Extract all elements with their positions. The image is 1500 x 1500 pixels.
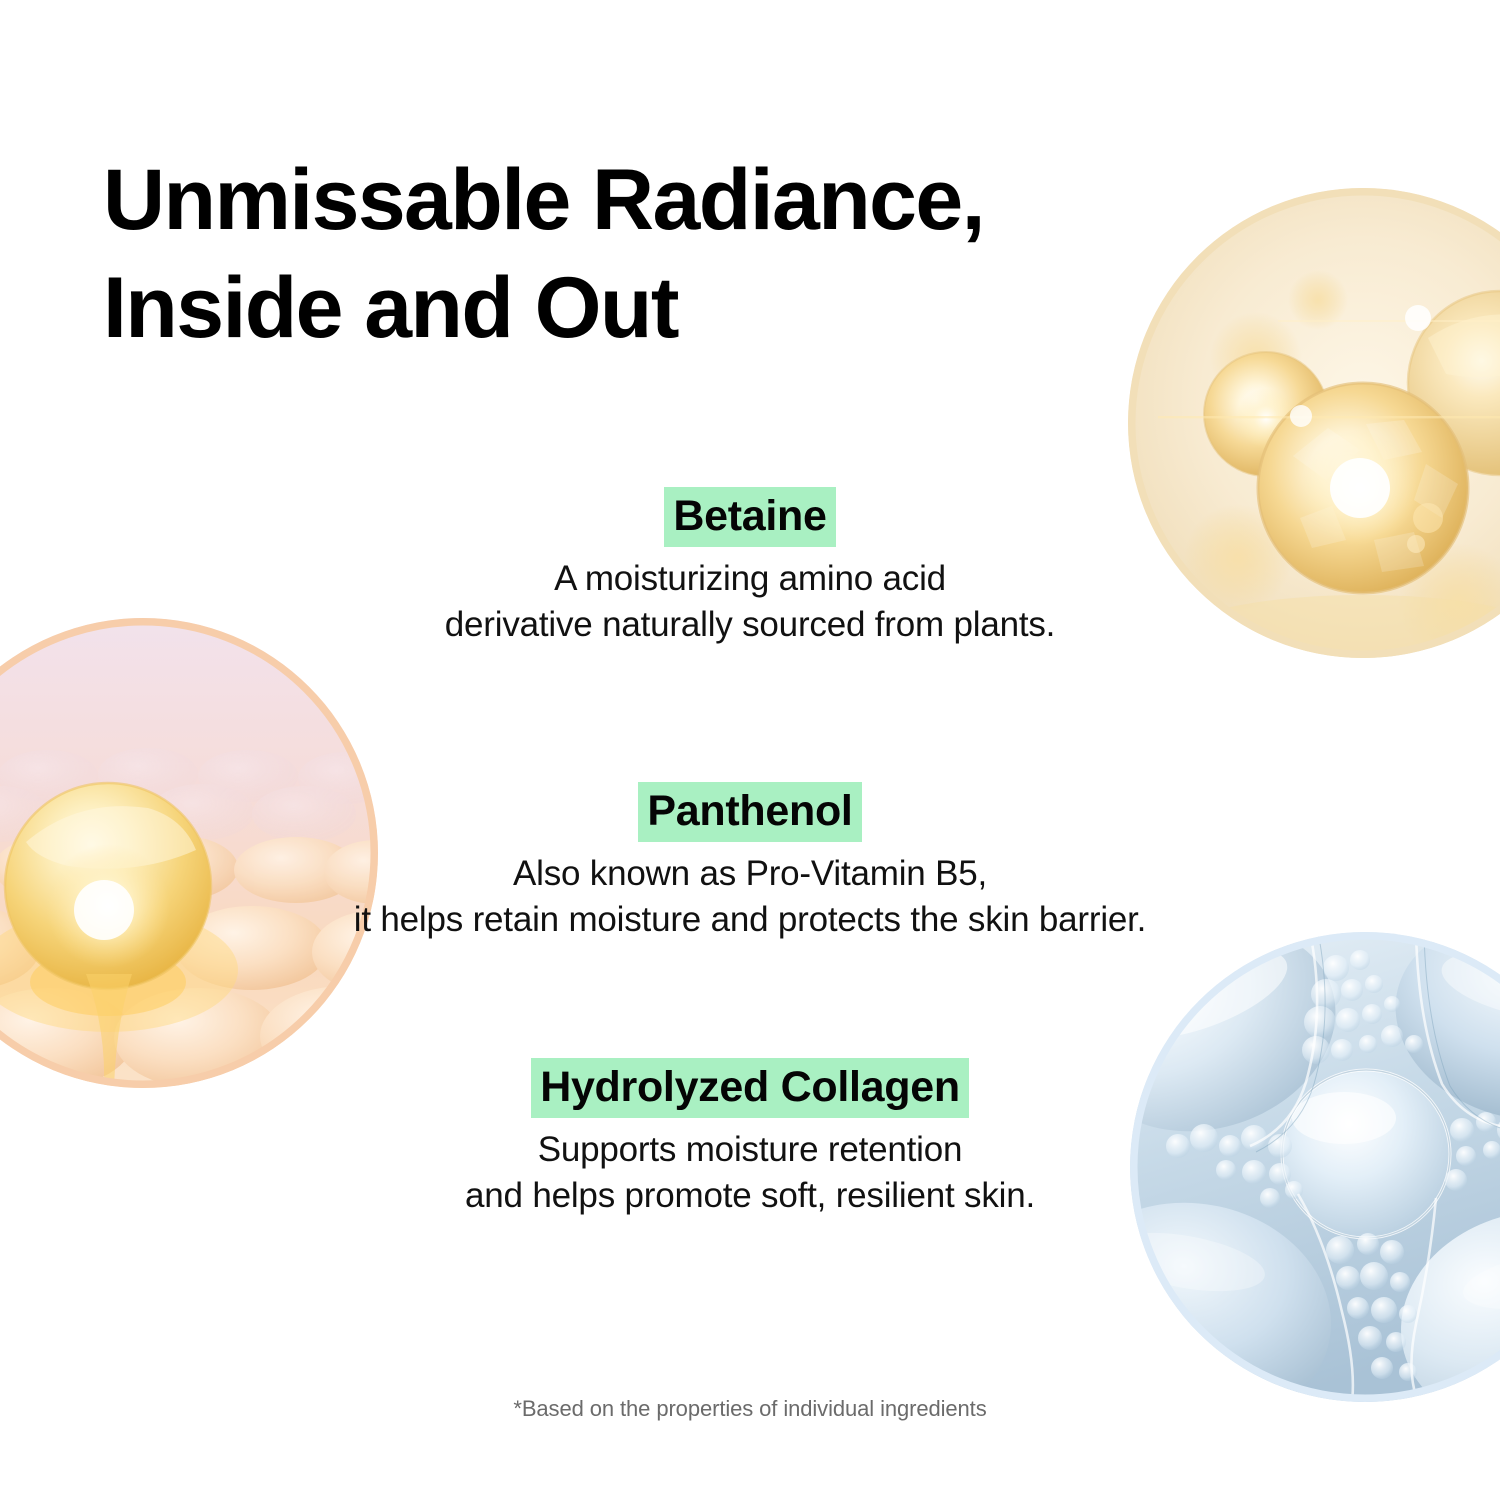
ingredient-name-badge: Betaine [664, 487, 835, 547]
ingredient-block-betaine: Betaine A moisturizing amino acid deriva… [250, 487, 1250, 647]
ingredient-name-badge: Hydrolyzed Collagen [531, 1058, 969, 1118]
ingredient-benefits-infographic: Unmissable Radiance, Inside and Out [0, 0, 1500, 1500]
ingredient-description: A moisturizing amino acid derivative nat… [250, 556, 1250, 647]
ingredient-description: Supports moisture retention and helps pr… [250, 1127, 1250, 1218]
footnote-disclaimer: *Based on the properties of individual i… [250, 1396, 1250, 1422]
ingredient-block-hydrolyzed-collagen: Hydrolyzed Collagen Supports moisture re… [250, 1058, 1250, 1218]
ingredient-block-panthenol: Panthenol Also known as Pro-Vitamin B5, … [250, 782, 1250, 942]
ingredient-description: Also known as Pro-Vitamin B5, it helps r… [250, 851, 1250, 942]
ingredient-name-badge: Panthenol [638, 782, 861, 842]
page-title: Unmissable Radiance, Inside and Out [103, 146, 1203, 363]
